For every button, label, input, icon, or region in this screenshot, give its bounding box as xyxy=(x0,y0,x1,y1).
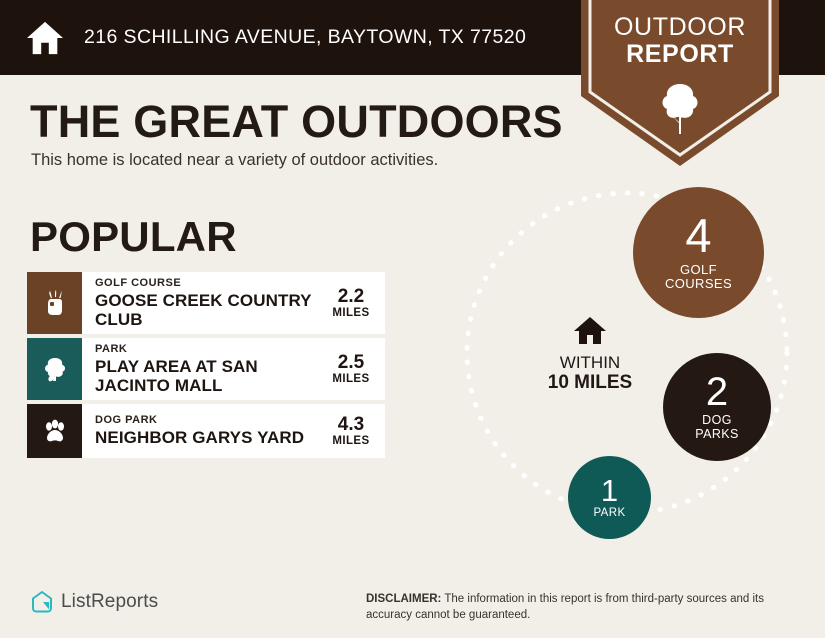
listreports-house-tag-icon xyxy=(31,590,53,614)
stat-label-line1: PARK xyxy=(593,507,625,519)
item-text: DOG PARK NEIGHBOR GARYS YARD xyxy=(95,414,321,447)
disclaimer: DISCLAIMER: The information in this repo… xyxy=(366,592,798,624)
item-category: PARK xyxy=(95,343,321,357)
stat-circle-dog-parks[interactable]: 2 DOG PARKS xyxy=(663,353,771,461)
stat-circle-parks[interactable]: 1 PARK xyxy=(568,456,651,539)
distance-unit: MILES xyxy=(321,373,381,385)
stat-label-line1: DOG xyxy=(702,414,732,428)
listreports-logo[interactable]: ListReports xyxy=(31,590,158,614)
list-item[interactable]: DOG PARK NEIGHBOR GARYS YARD 4.3 MILES xyxy=(27,404,385,458)
list-item[interactable]: PARK PLAY AREA AT SAN JACINTO MALL 2.5 M… xyxy=(27,338,385,400)
stat-circle-golf-courses[interactable]: 4 GOLF COURSES xyxy=(633,187,764,318)
property-address: 216 SCHILLING AVENUE, BAYTOWN, TX 77520 xyxy=(84,26,526,49)
distance-value: 4.3 xyxy=(321,415,381,435)
item-icon-tile-park xyxy=(27,338,82,400)
item-distance: 4.3 MILES xyxy=(321,415,385,447)
center-radius-label: WITHIN 10 MILES xyxy=(525,316,655,393)
item-body: GOLF COURSE GOOSE CREEK COUNTRY CLUB 2.2… xyxy=(82,272,385,334)
outdoor-report-badge: OUTDOOR REPORT xyxy=(581,0,779,166)
page-title: THE GREAT OUTDOORS xyxy=(30,96,563,148)
disclaimer-label: DISCLAIMER: xyxy=(366,593,441,605)
popular-list: GOLF COURSE GOOSE CREEK COUNTRY CLUB 2.2… xyxy=(27,272,385,462)
stat-value: 1 xyxy=(601,476,618,507)
stat-label-line1: GOLF xyxy=(680,263,717,277)
tree-icon xyxy=(660,82,700,134)
stat-value: 2 xyxy=(706,373,728,414)
listreports-logo-text: ListReports xyxy=(61,591,158,613)
popular-section-heading: POPULAR xyxy=(30,213,237,261)
stat-value: 4 xyxy=(685,214,711,263)
proximity-diagram: WITHIN 10 MILES 4 GOLF COURSES 2 DOG PAR… xyxy=(455,168,825,558)
item-body: DOG PARK NEIGHBOR GARYS YARD 4.3 MILES xyxy=(82,404,385,458)
page-subtitle: This home is located near a variety of o… xyxy=(31,151,438,170)
golf-bag-icon xyxy=(41,289,69,317)
stat-label-line2: PARKS xyxy=(695,428,738,442)
home-icon xyxy=(573,316,607,346)
item-name: GOOSE CREEK COUNTRY CLUB xyxy=(95,291,321,329)
item-text: GOLF COURSE GOOSE CREEK COUNTRY CLUB xyxy=(95,277,321,329)
distance-unit: MILES xyxy=(321,307,381,319)
distance-value: 2.5 xyxy=(321,353,381,373)
paw-print-icon xyxy=(41,417,69,445)
center-label-line2: 10 MILES xyxy=(525,372,655,393)
item-body: PARK PLAY AREA AT SAN JACINTO MALL 2.5 M… xyxy=(82,338,385,400)
badge-title: OUTDOOR REPORT xyxy=(581,14,779,67)
list-item[interactable]: GOLF COURSE GOOSE CREEK COUNTRY CLUB 2.2… xyxy=(27,272,385,334)
item-name: PLAY AREA AT SAN JACINTO MALL xyxy=(95,357,321,395)
item-category: GOLF COURSE xyxy=(95,277,321,291)
item-distance: 2.2 MILES xyxy=(321,287,385,319)
item-icon-tile-dog-park xyxy=(27,404,82,458)
distance-unit: MILES xyxy=(321,435,381,447)
item-category: DOG PARK xyxy=(95,414,321,428)
item-distance: 2.5 MILES xyxy=(321,353,385,385)
item-name: NEIGHBOR GARYS YARD xyxy=(95,428,321,447)
badge-title-line2: REPORT xyxy=(581,41,779,68)
item-icon-tile-golf xyxy=(27,272,82,334)
stat-label-line2: COURSES xyxy=(665,277,732,291)
distance-value: 2.2 xyxy=(321,287,381,307)
home-icon xyxy=(26,20,64,56)
center-label-line1: WITHIN xyxy=(525,353,655,372)
tree-icon xyxy=(41,355,69,383)
badge-title-line1: OUTDOOR xyxy=(581,14,779,41)
item-text: PARK PLAY AREA AT SAN JACINTO MALL xyxy=(95,343,321,395)
